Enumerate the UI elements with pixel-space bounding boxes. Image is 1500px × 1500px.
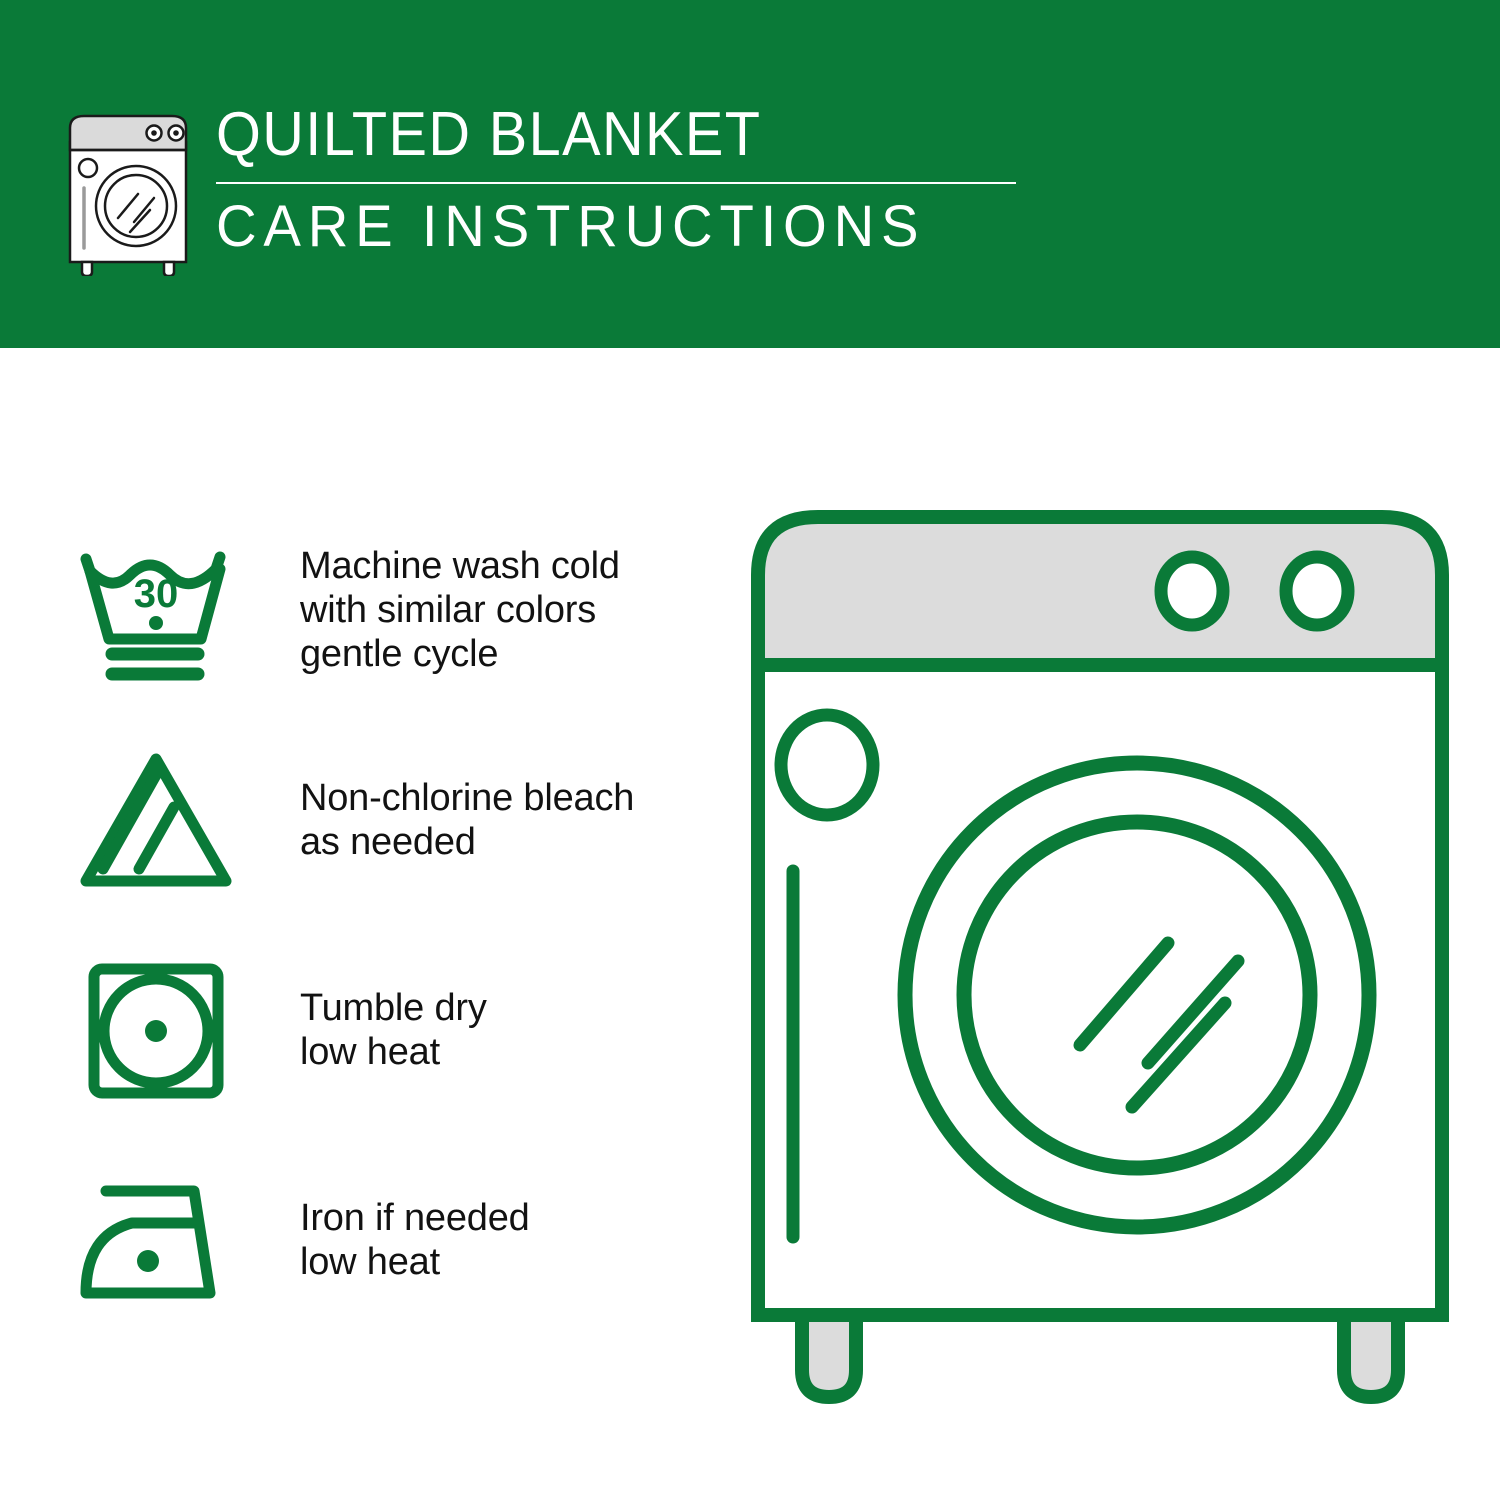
care-line: gentle cycle bbox=[300, 632, 620, 676]
care-text-bleach: Non-chlorine bleach as needed bbox=[300, 776, 634, 864]
wash-tub-30-gentle-icon: 30 bbox=[70, 530, 242, 690]
tumble-dry-low-icon bbox=[70, 950, 242, 1110]
header-banner: QUILTED BLANKET CARE INSTRUCTIONS bbox=[0, 0, 1500, 348]
leg-right bbox=[1344, 1315, 1398, 1397]
care-line: Iron if needed bbox=[300, 1196, 530, 1240]
care-line: Machine wash cold bbox=[300, 544, 620, 588]
control-knob-left bbox=[1161, 557, 1223, 625]
iron-low-heat-icon bbox=[70, 1160, 242, 1320]
care-line: Tumble dry bbox=[300, 986, 487, 1030]
care-line: low heat bbox=[300, 1030, 487, 1074]
front-load-washing-machine-illustration bbox=[740, 495, 1460, 1435]
care-line: as needed bbox=[300, 820, 634, 864]
bleach-triangle-striped-icon bbox=[70, 740, 242, 900]
care-text-machine-wash: Machine wash cold with similar colors ge… bbox=[300, 544, 620, 676]
title-divider bbox=[216, 182, 1016, 184]
care-row-tumble-dry: Tumble dry low heat bbox=[70, 925, 730, 1135]
page-title: QUILTED BLANKET bbox=[216, 100, 960, 170]
care-line: low heat bbox=[300, 1240, 530, 1284]
header-content: QUILTED BLANKET CARE INSTRUCTIONS bbox=[58, 98, 1016, 276]
leg-left bbox=[802, 1315, 856, 1397]
care-row-iron: Iron if needed low heat bbox=[70, 1135, 730, 1345]
page-subtitle: CARE INSTRUCTIONS bbox=[216, 194, 992, 260]
care-instruction-list: 30 Machine wash cold with similar colors… bbox=[70, 505, 730, 1345]
care-row-bleach: Non-chlorine bleach as needed bbox=[70, 715, 730, 925]
care-text-tumble-dry: Tumble dry low heat bbox=[300, 986, 487, 1074]
door-inner-ring bbox=[964, 822, 1310, 1168]
control-knob-right bbox=[1286, 557, 1348, 625]
header-title-block: QUILTED BLANKET CARE INSTRUCTIONS bbox=[216, 100, 1016, 260]
detergent-indicator-circle bbox=[781, 715, 873, 815]
wash-temperature-label: 30 bbox=[134, 572, 179, 616]
care-line: Non-chlorine bleach bbox=[300, 776, 634, 820]
care-line: with similar colors bbox=[300, 588, 620, 632]
care-text-iron: Iron if needed low heat bbox=[300, 1196, 530, 1284]
washing-machine-icon bbox=[58, 106, 198, 276]
care-row-machine-wash: 30 Machine wash cold with similar colors… bbox=[70, 505, 730, 715]
